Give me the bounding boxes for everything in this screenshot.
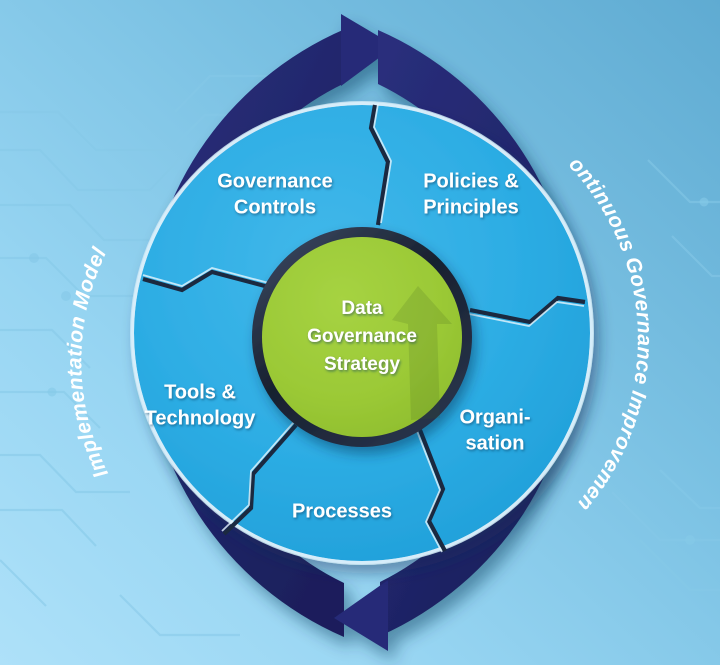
segment-label-processes: Processes xyxy=(292,500,392,522)
seg-tools-technology-line1: Tools & xyxy=(164,381,236,403)
hub-line-governance: Governance xyxy=(307,326,417,347)
hub-line-data: Data xyxy=(341,298,383,319)
seg-organisation-line1: Organi- xyxy=(459,406,530,428)
seg-organisation-line2: sation xyxy=(466,432,525,454)
seg-governance-controls-line2: Controls xyxy=(234,196,316,218)
seg-policies-principles-line2: Principles xyxy=(423,196,519,218)
diagram-canvas: Implementation Model Continuous Governan… xyxy=(0,0,720,665)
seg-policies-principles-line1: Policies & xyxy=(423,170,519,192)
seg-tools-technology-line2: Technology xyxy=(145,407,257,429)
hub-line-strategy: Strategy xyxy=(324,354,400,375)
seg-governance-controls-line1: Governance xyxy=(217,170,333,192)
data-governance-wheel: Implementation Model Continuous Governan… xyxy=(0,0,720,665)
seg-processes-line1: Processes xyxy=(292,500,392,522)
